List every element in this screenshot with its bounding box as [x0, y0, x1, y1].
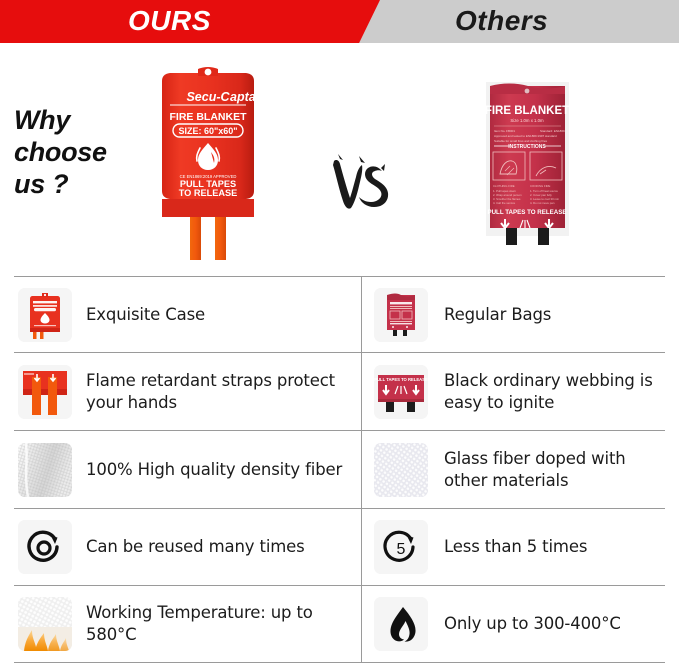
hero-our-product-image: Secu-C . aptain FIRE BLANKET SIZE: 60"x6…	[152, 65, 264, 260]
dense-fiber-weave-thumb	[18, 443, 72, 497]
other-bag-mini-icon	[374, 288, 428, 342]
reuse-five-icon: 5	[374, 520, 428, 574]
header-others-label: Others	[455, 0, 548, 43]
flame-icon	[374, 597, 428, 651]
reuse-count-badge: 5	[397, 541, 406, 558]
regular-bag-thumb	[374, 288, 428, 342]
row-label-others: Regular Bags	[444, 304, 551, 326]
fiber-flame-thumb	[18, 597, 72, 651]
svg-text:COOKING FIRE: COOKING FIRE	[530, 184, 550, 188]
reuse-infinite-icon	[18, 520, 72, 574]
row-label-others: Only up to 300-400°C	[444, 613, 621, 635]
table-cell-ours: Exquisite Case	[14, 277, 362, 352]
svg-text:4. Call fire service: 4. Call fire service	[493, 201, 516, 205]
table-cell-others: Regular Bags	[362, 277, 665, 352]
fire-blanket-case-thumb	[18, 288, 72, 342]
fiber-weave-icon	[18, 443, 72, 497]
table-cell-ours: Can be reused many times	[14, 509, 362, 585]
comparison-header-band: OURS Others	[0, 0, 679, 43]
row-label-ours: Exquisite Case	[86, 304, 205, 326]
table-row: Working Temperature: up to 580°C Only up…	[14, 586, 665, 662]
table-row: Flame retardant straps protect your hand…	[14, 353, 665, 431]
orange-straps-thumb	[18, 365, 72, 419]
row-label-ours: 100% High quality density fiber	[86, 459, 342, 481]
svg-text:4. Do not move pan: 4. Do not move pan	[530, 201, 555, 205]
row-label-ours: Working Temperature: up to 580°C	[86, 602, 357, 646]
flame-retardant-straps-icon	[18, 365, 72, 419]
svg-text:Standard: EN1869: Standard: EN1869	[540, 129, 565, 133]
hero-other-product-image: FIRE BLANKET Size 1.0m x 1.0m Item No. F…	[480, 76, 575, 248]
table-cell-others: Only up to 300-400°C	[362, 586, 665, 662]
table-cell-ours: Working Temperature: up to 580°C	[14, 586, 362, 662]
comparison-table: Exquisite Case	[14, 276, 665, 663]
svg-text:PULL TAPES TO RELEASE: PULL TAPES TO RELEASE	[374, 377, 428, 382]
svg-text:CLOTHING FIRE: CLOTHING FIRE	[493, 184, 515, 188]
table-cell-ours: Flame retardant straps protect your hand…	[14, 353, 362, 430]
black-flame-icon	[374, 597, 428, 651]
header-ours-label: OURS	[128, 0, 211, 43]
svg-text:FIRE BLANKET: FIRE BLANKET	[485, 105, 569, 117]
our-bag-mini-icon	[18, 288, 72, 342]
hero-section: Why choose us ?	[0, 43, 679, 266]
other-fire-blanket-bag: FIRE BLANKET Size 1.0m x 1.0m Item No. F…	[480, 76, 575, 248]
glass-fiber-icon	[374, 443, 428, 497]
vs-brushstroke-icon	[328, 151, 390, 217]
table-cell-others: Glass fiber doped with other materials	[362, 431, 665, 508]
row-label-others: Less than 5 times	[444, 536, 587, 558]
row-label-others: Glass fiber doped with other materials	[444, 448, 661, 492]
svg-text:SIZE: 60"x60": SIZE: 60"x60"	[178, 126, 237, 136]
svg-text:Approved and tested to EN1869:: Approved and tested to EN1869:1997 stand…	[494, 134, 557, 138]
fiber-under-flame-icon	[18, 597, 72, 651]
versus-mark	[328, 151, 390, 217]
table-cell-ours: 100% High quality density fiber	[14, 431, 362, 508]
row-label-ours: Flame retardant straps protect your hand…	[86, 370, 357, 414]
svg-text:aptain: aptain	[230, 90, 264, 104]
svg-text:INSTRUCTIONS: INSTRUCTIONS	[508, 144, 546, 150]
svg-text:PULL TAPES TO RELEASE: PULL TAPES TO RELEASE	[487, 209, 566, 216]
svg-text:Item No. FB001: Item No. FB001	[494, 129, 515, 133]
our-fire-blanket-bag: Secu-C . aptain FIRE BLANKET SIZE: 60"x6…	[152, 65, 264, 260]
black-webbing-thumb: PULL TAPES TO RELEASE	[374, 365, 428, 419]
reuse-many-times-icon	[18, 520, 72, 574]
table-row: Exquisite Case	[14, 277, 665, 353]
table-cell-others: 5 Less than 5 times	[362, 509, 665, 585]
table-row: 100% High quality density fiber Glass fi…	[14, 431, 665, 509]
svg-text:Size 1.0m x 1.0m: Size 1.0m x 1.0m	[510, 118, 544, 123]
table-row: Can be reused many times 5 Less than 5 t…	[14, 509, 665, 586]
page-headline: Why choose us ?	[14, 105, 144, 201]
row-label-others: Black ordinary webbing is easy to ignite	[444, 370, 661, 414]
black-webbing-icon: PULL TAPES TO RELEASE	[374, 365, 428, 419]
svg-text:Suitable for small fires and c: Suitable for small fires and clothing fi…	[494, 139, 548, 143]
reuse-limited-five-icon: 5	[374, 520, 428, 574]
table-cell-others: PULL TAPES TO RELEASE Black ordinary web…	[362, 353, 665, 430]
svg-text:TO RELEASE: TO RELEASE	[179, 188, 238, 198]
glass-fiber-thumb	[374, 443, 428, 497]
row-label-ours: Can be reused many times	[86, 536, 305, 558]
svg-text:FIRE BLANKET: FIRE BLANKET	[170, 111, 248, 123]
